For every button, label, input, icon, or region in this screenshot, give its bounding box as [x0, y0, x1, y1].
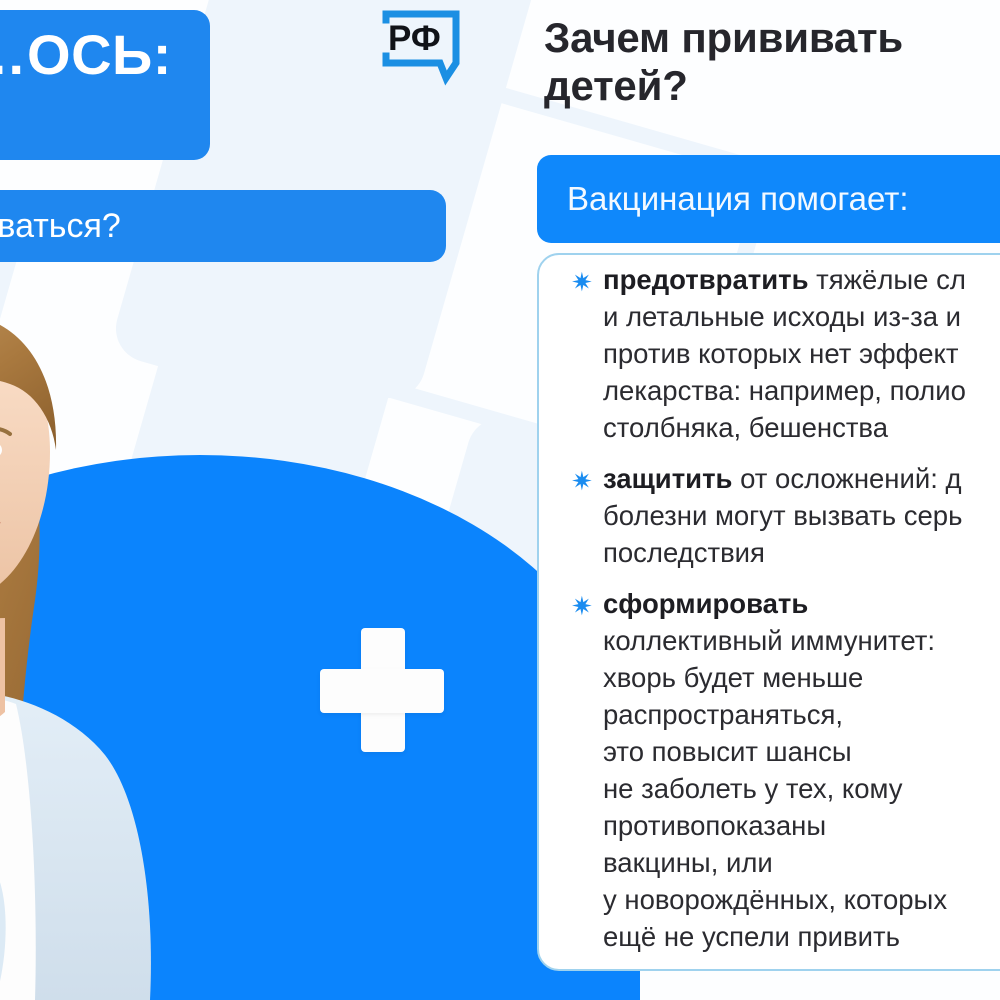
left-title-pill: …ВИВОК …ОСЬ: [0, 10, 210, 160]
sparkle-bullet-icon: ✷ [571, 596, 591, 616]
benefits-list: ✷ предотвратить тяжёлые сл и летальные и… [557, 261, 1000, 969]
vaccination-helps-label: Вакцинация помогает: [567, 180, 909, 218]
list-item-rest: коллективный иммунитет: хворь будет мень… [603, 625, 947, 952]
list-item: ✷ предотвратить тяжёлые сл и летальные и… [557, 261, 1000, 446]
list-item-text: предотвратить тяжёлые сл и летальные исх… [603, 261, 1000, 446]
poster-canvas: …ВИВОК …ОСЬ: …жно вакцинироваться? РФ За… [0, 0, 1000, 1000]
list-item-lead: сформировать [603, 588, 808, 619]
rf-speech-bubble-logo: РФ [378, 8, 466, 88]
girl-photo [0, 300, 340, 1000]
list-item: ✷ защитить от осложнений: д болезни могу… [557, 460, 1000, 571]
list-item-lead: защитить [603, 463, 732, 494]
left-subtitle-text: …жно вакцинироваться? [0, 207, 121, 246]
vaccination-helps-banner: Вакцинация помогает: [537, 155, 1000, 243]
list-item-text: сформировать коллективный иммунитет: хво… [603, 585, 1000, 955]
list-item-lead: предотвратить [603, 264, 809, 295]
sparkle-bullet-icon: ✷ [571, 471, 591, 491]
page-title: Зачем прививать детей? [544, 14, 1000, 110]
benefits-card: ✷ предотвратить тяжёлые сл и летальные и… [537, 253, 1000, 971]
right-panel: Зачем прививать детей? Вакцинация помога… [517, 0, 1000, 1000]
list-item: ✷ сформировать коллективный иммунитет: х… [557, 585, 1000, 955]
rf-logo-text: РФ [388, 19, 441, 58]
left-subtitle-pill: …жно вакцинироваться? [0, 190, 446, 262]
left-title-text: …ВИВОК …ОСЬ: [0, 23, 172, 86]
list-item-text: защитить от осложнений: д болезни могут … [603, 460, 1000, 571]
sparkle-bullet-icon: ✷ [571, 272, 591, 292]
